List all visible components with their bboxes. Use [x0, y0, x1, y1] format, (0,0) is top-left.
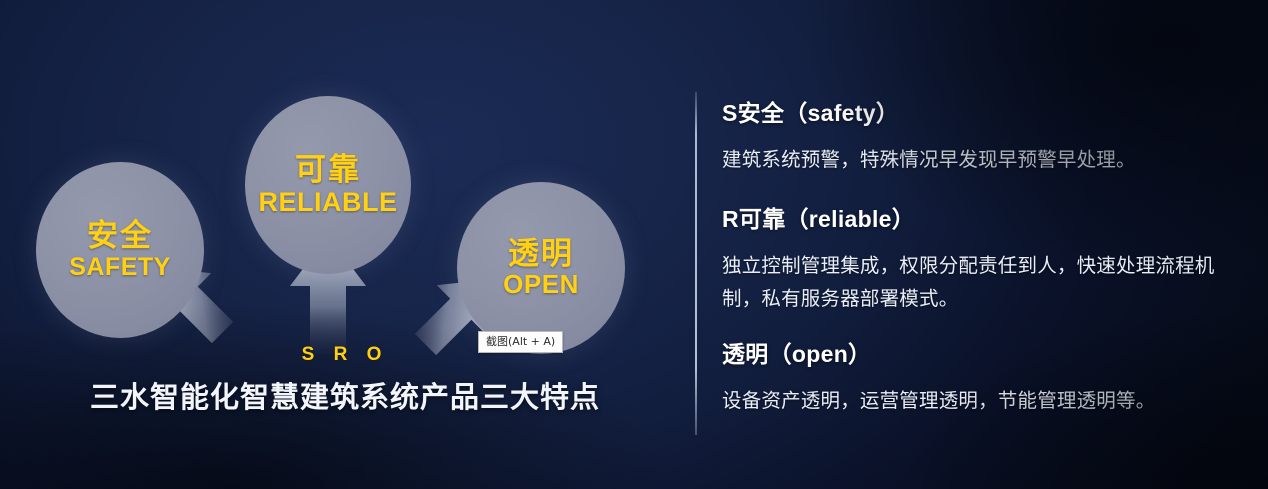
- definition-body-safety: 建筑系统预警，特殊情况早发现早预警早处理。: [722, 144, 1242, 178]
- bubble-reliable[interactable]: 可靠 RELIABLE: [245, 96, 411, 274]
- bubble-reliable-cn: 可靠: [295, 154, 361, 187]
- definition-title-reliable: R可靠（reliable）: [722, 200, 1242, 234]
- sro-diagram: 安全 SAFETY 可靠 RELIABLE 透明 OPEN S R O 三水智能…: [0, 0, 690, 489]
- screenshot-tooltip[interactable]: 截图(Alt + A): [478, 331, 563, 353]
- bubble-open-cn: 透明: [508, 238, 574, 271]
- bubble-open[interactable]: 透明 OPEN: [457, 182, 625, 354]
- definition-item-safety: S安全（safety） 建筑系统预警，特殊情况早发现早预警早处理。: [722, 94, 1242, 178]
- bubble-open-en: OPEN: [503, 271, 579, 298]
- bubble-safety-en: SAFETY: [69, 254, 171, 280]
- definition-item-reliable: R可靠（reliable） 独立控制管理集成，权限分配责任到人，快速处理流程机制…: [722, 200, 1242, 317]
- bubble-safety-cn: 安全: [87, 220, 153, 253]
- definitions-panel: S安全（safety） 建筑系统预警，特殊情况早发现早预警早处理。 R可靠（re…: [722, 94, 1242, 421]
- definition-title-open: 透明（open）: [722, 335, 1242, 369]
- definition-title-safety: S安全（safety）: [722, 94, 1242, 128]
- bubble-safety[interactable]: 安全 SAFETY: [36, 162, 204, 338]
- diagram-caption: 三水智能化智慧建筑系统产品三大特点: [0, 374, 690, 416]
- definition-item-open: 透明（open） 设备资产透明，运营管理透明，节能管理透明等。: [722, 335, 1242, 419]
- definition-body-reliable: 独立控制管理集成，权限分配责任到人，快速处理流程机制，私有服务器部署模式。: [722, 250, 1242, 317]
- slide-canvas: 安全 SAFETY 可靠 RELIABLE 透明 OPEN S R O 三水智能…: [0, 0, 1268, 489]
- sro-label: S R O: [0, 344, 690, 366]
- definition-body-open: 设备资产透明，运营管理透明，节能管理透明等。: [722, 385, 1242, 419]
- vertical-divider: [695, 92, 697, 435]
- bubble-reliable-en: RELIABLE: [259, 188, 398, 216]
